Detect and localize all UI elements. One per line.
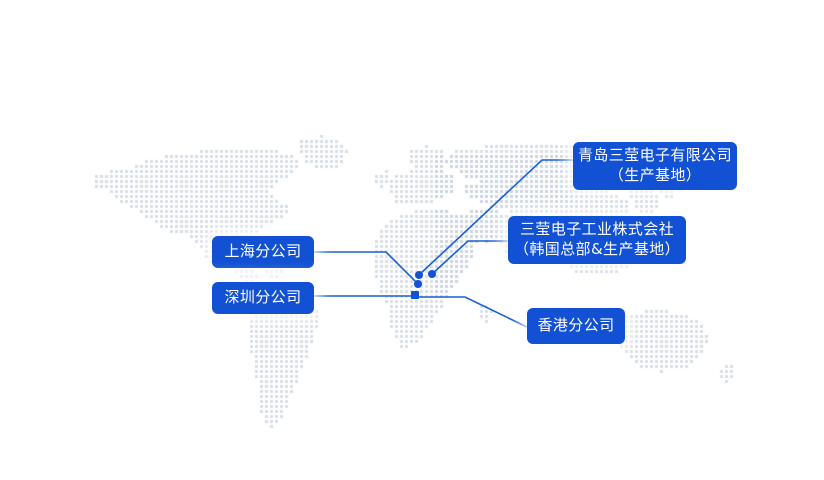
label-shenzhen-line1: 深圳分公司 (224, 288, 301, 308)
qingdao-pin[interactable] (415, 271, 423, 279)
location-markers (411, 270, 436, 299)
conn-hongkong (416, 297, 527, 327)
shenzhen-pin[interactable] (411, 291, 419, 299)
label-shanghai[interactable]: 上海分公司 (212, 236, 314, 268)
label-shanghai-line1: 上海分公司 (224, 242, 301, 262)
world-map-infographic: 青岛三莹电子有限公司 （生产基地） 三莹电子工业株式会社 （韩国总部&生产基地）… (0, 0, 824, 480)
label-hongkong[interactable]: 香港分公司 (527, 308, 625, 344)
conn-shanghai (314, 252, 418, 284)
label-qingdao[interactable]: 青岛三莹电子有限公司 （生产基地） (573, 142, 737, 190)
korea-pin[interactable] (428, 270, 436, 278)
label-qingdao-line2: （生产基地） (609, 166, 701, 186)
label-shenzhen[interactable]: 深圳分公司 (212, 282, 314, 314)
label-korea-line1: 三莹电子工业株式会社 (520, 220, 674, 240)
label-korea-line2: （韩国总部&生产基地） (514, 240, 680, 260)
label-qingdao-line1: 青岛三莹电子有限公司 (578, 146, 732, 166)
conn-korea (432, 241, 508, 274)
label-hongkong-line1: 香港分公司 (538, 316, 615, 336)
label-korea[interactable]: 三莹电子工业株式会社 （韩国总部&生产基地） (508, 216, 686, 264)
shanghai-pin[interactable] (414, 280, 422, 288)
connector-layer (0, 0, 824, 480)
